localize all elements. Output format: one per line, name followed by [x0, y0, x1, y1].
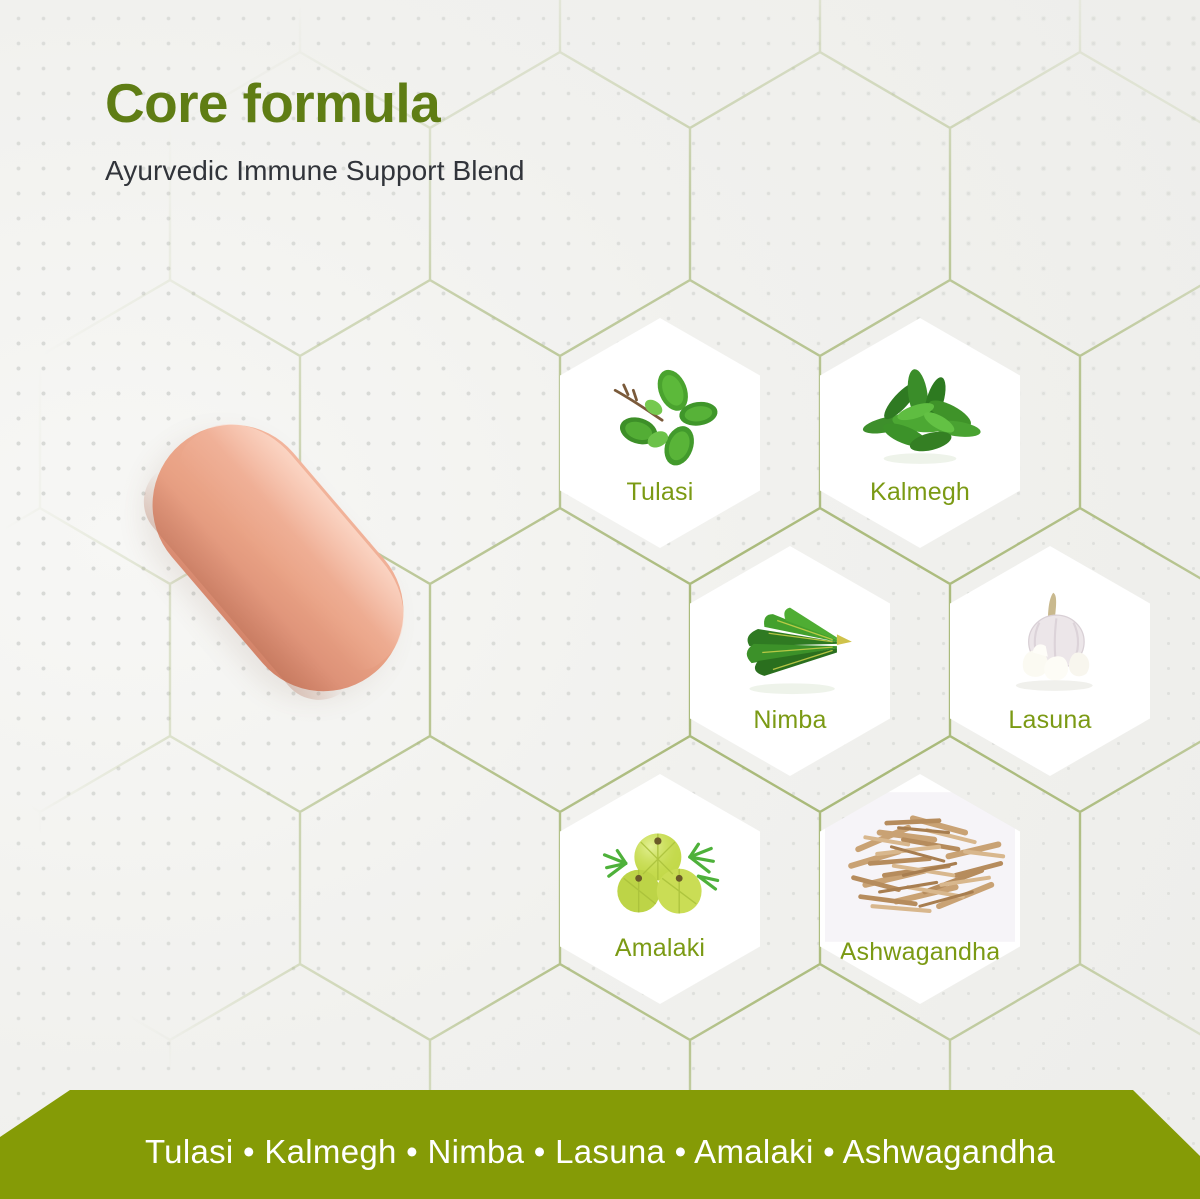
ashwagandha-root-icon — [825, 792, 1015, 942]
page-title: Core formula — [105, 76, 525, 131]
ingredient-banner-text: Tulasi • Kalmegh • Nimba • Lasuna • Amal… — [145, 1133, 1055, 1171]
tulasi-leaf-icon — [596, 358, 724, 476]
ingredient-label: Amalaki — [615, 934, 705, 963]
poster-canvas: Core formula Ayurvedic Immune Support Bl… — [0, 0, 1200, 1199]
ingredient-label: Ashwagandha — [840, 938, 1001, 967]
tablet-pill-icon — [120, 392, 436, 724]
header-block: Core formula Ayurvedic Immune Support Bl… — [105, 76, 525, 185]
ingredient-label: Nimba — [753, 706, 826, 735]
product-tablet — [108, 418, 448, 718]
ingredient-label: Kalmegh — [870, 478, 970, 507]
page-subtitle: Ayurvedic Immune Support Blend — [105, 157, 525, 185]
lasuna-garlic-icon — [986, 586, 1114, 704]
kalmegh-leaf-icon — [856, 358, 984, 476]
amalaki-gooseberry-icon — [596, 814, 724, 932]
ingredient-banner: Tulasi • Kalmegh • Nimba • Lasuna • Amal… — [0, 1090, 1200, 1199]
ingredient-label: Lasuna — [1008, 706, 1091, 735]
nimba-neem-leaf-icon — [726, 586, 854, 704]
ingredient-label: Tulasi — [627, 478, 694, 507]
